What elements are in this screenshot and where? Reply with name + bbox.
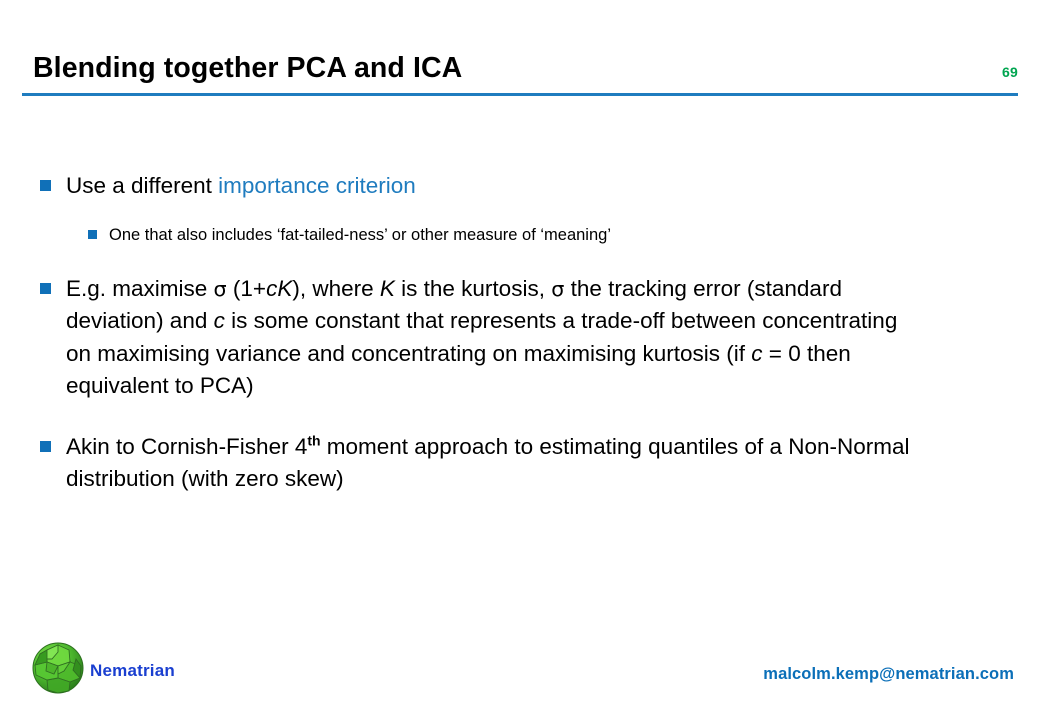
spacer <box>0 247 1040 273</box>
b2-var-k-2: K <box>380 276 395 301</box>
bullet-text-2: E.g. maximise σ (1+cK), where K is the k… <box>66 273 926 403</box>
b2-seg-4: is the kurtosis, <box>395 276 551 301</box>
b3-seg-1: Akin to Cornish-Fisher 4 <box>66 434 307 459</box>
b3-ordinal-suffix: th <box>307 432 320 448</box>
b2-var-c-2: c <box>214 308 225 333</box>
bullet-item-3: Akin to Cornish-Fisher 4th moment approa… <box>0 431 1040 496</box>
contact-email[interactable]: malcolm.kemp@nematrian.com <box>763 665 1014 684</box>
bullet-1-accent-text: importance criterion <box>218 173 416 198</box>
square-bullet-small-icon <box>88 230 97 239</box>
b2-var-k-1: K <box>277 276 292 301</box>
page-title: Blending together PCA and ICA <box>33 52 462 85</box>
b2-seg-2: (1+ <box>227 276 266 301</box>
title-divider <box>22 93 1018 96</box>
b2-var-c-1: c <box>266 276 277 301</box>
spacer <box>0 203 1040 223</box>
square-bullet-icon <box>40 441 51 452</box>
slide-footer: Nematrian malcolm.kemp@nematrian.com <box>0 630 1040 720</box>
square-bullet-icon <box>40 283 51 294</box>
sub-bullet-text-1: One that also includes ‘fat-tailed-ness’… <box>109 223 611 247</box>
bullet-item-1-sub-1: One that also includes ‘fat-tailed-ness’… <box>0 223 1040 247</box>
b2-seg-3: ), where <box>292 276 380 301</box>
nematrian-polyhedron-logo-icon <box>30 640 86 696</box>
b2-var-c-3: c <box>751 341 762 366</box>
slide-header: Blending together PCA and ICA 69 <box>0 52 1040 98</box>
bullet-item-2: E.g. maximise σ (1+cK), where K is the k… <box>0 273 1040 403</box>
bullet-item-1: Use a different importance criterion <box>0 170 1040 203</box>
slide-body: Use a different importance criterion One… <box>0 170 1040 496</box>
sigma-symbol: σ <box>214 277 227 301</box>
sigma-symbol: σ <box>551 277 564 301</box>
spacer <box>0 403 1040 431</box>
b2-seg-1: E.g. maximise <box>66 276 214 301</box>
slide: Blending together PCA and ICA 69 Use a d… <box>0 0 1040 720</box>
bullet-1-lead-text: Use a different <box>66 173 218 198</box>
square-bullet-icon <box>40 180 51 191</box>
bullet-text-1: Use a different importance criterion <box>66 170 416 203</box>
bullet-text-3: Akin to Cornish-Fisher 4th moment approa… <box>66 431 926 496</box>
page-number: 69 <box>1002 64 1018 80</box>
brand-name: Nematrian <box>90 661 175 681</box>
